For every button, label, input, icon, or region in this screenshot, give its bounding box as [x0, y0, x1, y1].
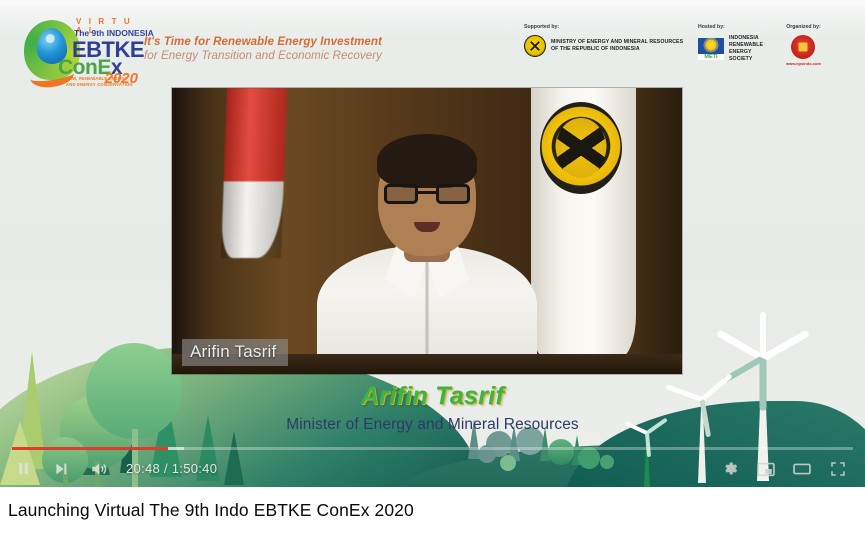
sponsor-hosted-by: Hosted by: METI INDONESIA RENEWABLE ENER… [698, 24, 763, 63]
ebtke-conex-logo: V I R T U A L The 9th INDONESIA EBTKE Co… [18, 14, 136, 86]
ministry-emblem-icon [540, 102, 622, 194]
speaker-glasses-icon [384, 184, 470, 204]
organizer-seal-icon [791, 35, 815, 59]
esdm-seal-icon [524, 35, 546, 57]
speaker-name-tag: Arifin Tasrif [182, 339, 288, 366]
theater-mode-button[interactable] [785, 452, 819, 486]
meti-wordmark: METI [698, 54, 724, 60]
meti-logo-icon: METI [698, 38, 724, 60]
settings-button[interactable] [713, 452, 747, 486]
organizer-url: www.epsindo.com [786, 61, 821, 66]
slide-header: V I R T U A L The 9th INDONESIA EBTKE Co… [0, 0, 865, 88]
logo-year-text: 2020 [105, 70, 138, 87]
volume-button[interactable] [82, 452, 116, 486]
player-controls-bar[interactable]: 20:48 / 1:50:40 [0, 450, 865, 487]
sponsor-organized-by: Organized by: www.epsindo.com [786, 24, 821, 66]
lower-third-role: Minister of Energy and Mineral Resources [0, 416, 865, 434]
theater-mode-icon [792, 459, 812, 479]
host-caption: Hosted by: [698, 24, 763, 30]
tagline-line-1: It's Time for Renewable Energy Investmen… [144, 36, 382, 48]
glasses-lens-right [436, 184, 470, 204]
lower-third-name: Arifin Tasrif [0, 382, 865, 411]
host-name: INDONESIA RENEWABLE ENERGY SOCIETY [729, 35, 763, 63]
tagline-line-2: for Energy Transition and Economic Recov… [144, 50, 382, 62]
gear-icon [722, 460, 739, 477]
glasses-lens-left [384, 184, 418, 204]
fullscreen-icon [829, 460, 847, 478]
pause-icon [16, 461, 31, 476]
sponsor-name: MINISTRY OF ENERGY AND MINERAL RESOURCES… [551, 39, 683, 53]
sponsor-supported-by: Supported by: MINISTRY OF ENERGY AND MIN… [524, 24, 683, 57]
organizer-caption: Organized by: [786, 24, 821, 30]
slide-tagline: It's Time for Renewable Energy Investmen… [144, 36, 382, 62]
ministry-flag [531, 88, 636, 358]
glasses-bridge [418, 191, 436, 194]
lower-third: Arifin Tasrif Minister of Energy and Min… [0, 382, 865, 434]
miniplayer-icon [756, 459, 776, 479]
time-display: 20:48 / 1:50:40 [120, 461, 227, 476]
miniplayer-button[interactable] [749, 452, 783, 486]
speaker-head [378, 138, 476, 256]
speaker-hair [377, 134, 477, 188]
volume-icon [90, 460, 108, 478]
speaker-mouth [414, 222, 440, 232]
pause-button[interactable] [6, 452, 40, 486]
embedded-video-frame: Arifin Tasrif [172, 88, 682, 374]
next-video-button[interactable] [44, 452, 78, 486]
next-track-icon [53, 461, 69, 477]
sponsor-caption: Supported by: [524, 24, 683, 30]
indonesian-flag [221, 88, 287, 258]
fullscreen-button[interactable] [821, 452, 855, 486]
video-title: Launching Virtual The 9th Indo EBTKE Con… [0, 487, 865, 533]
speaker-figure [312, 144, 542, 374]
video-player[interactable]: V I R T U A L The 9th INDONESIA EBTKE Co… [0, 0, 865, 487]
